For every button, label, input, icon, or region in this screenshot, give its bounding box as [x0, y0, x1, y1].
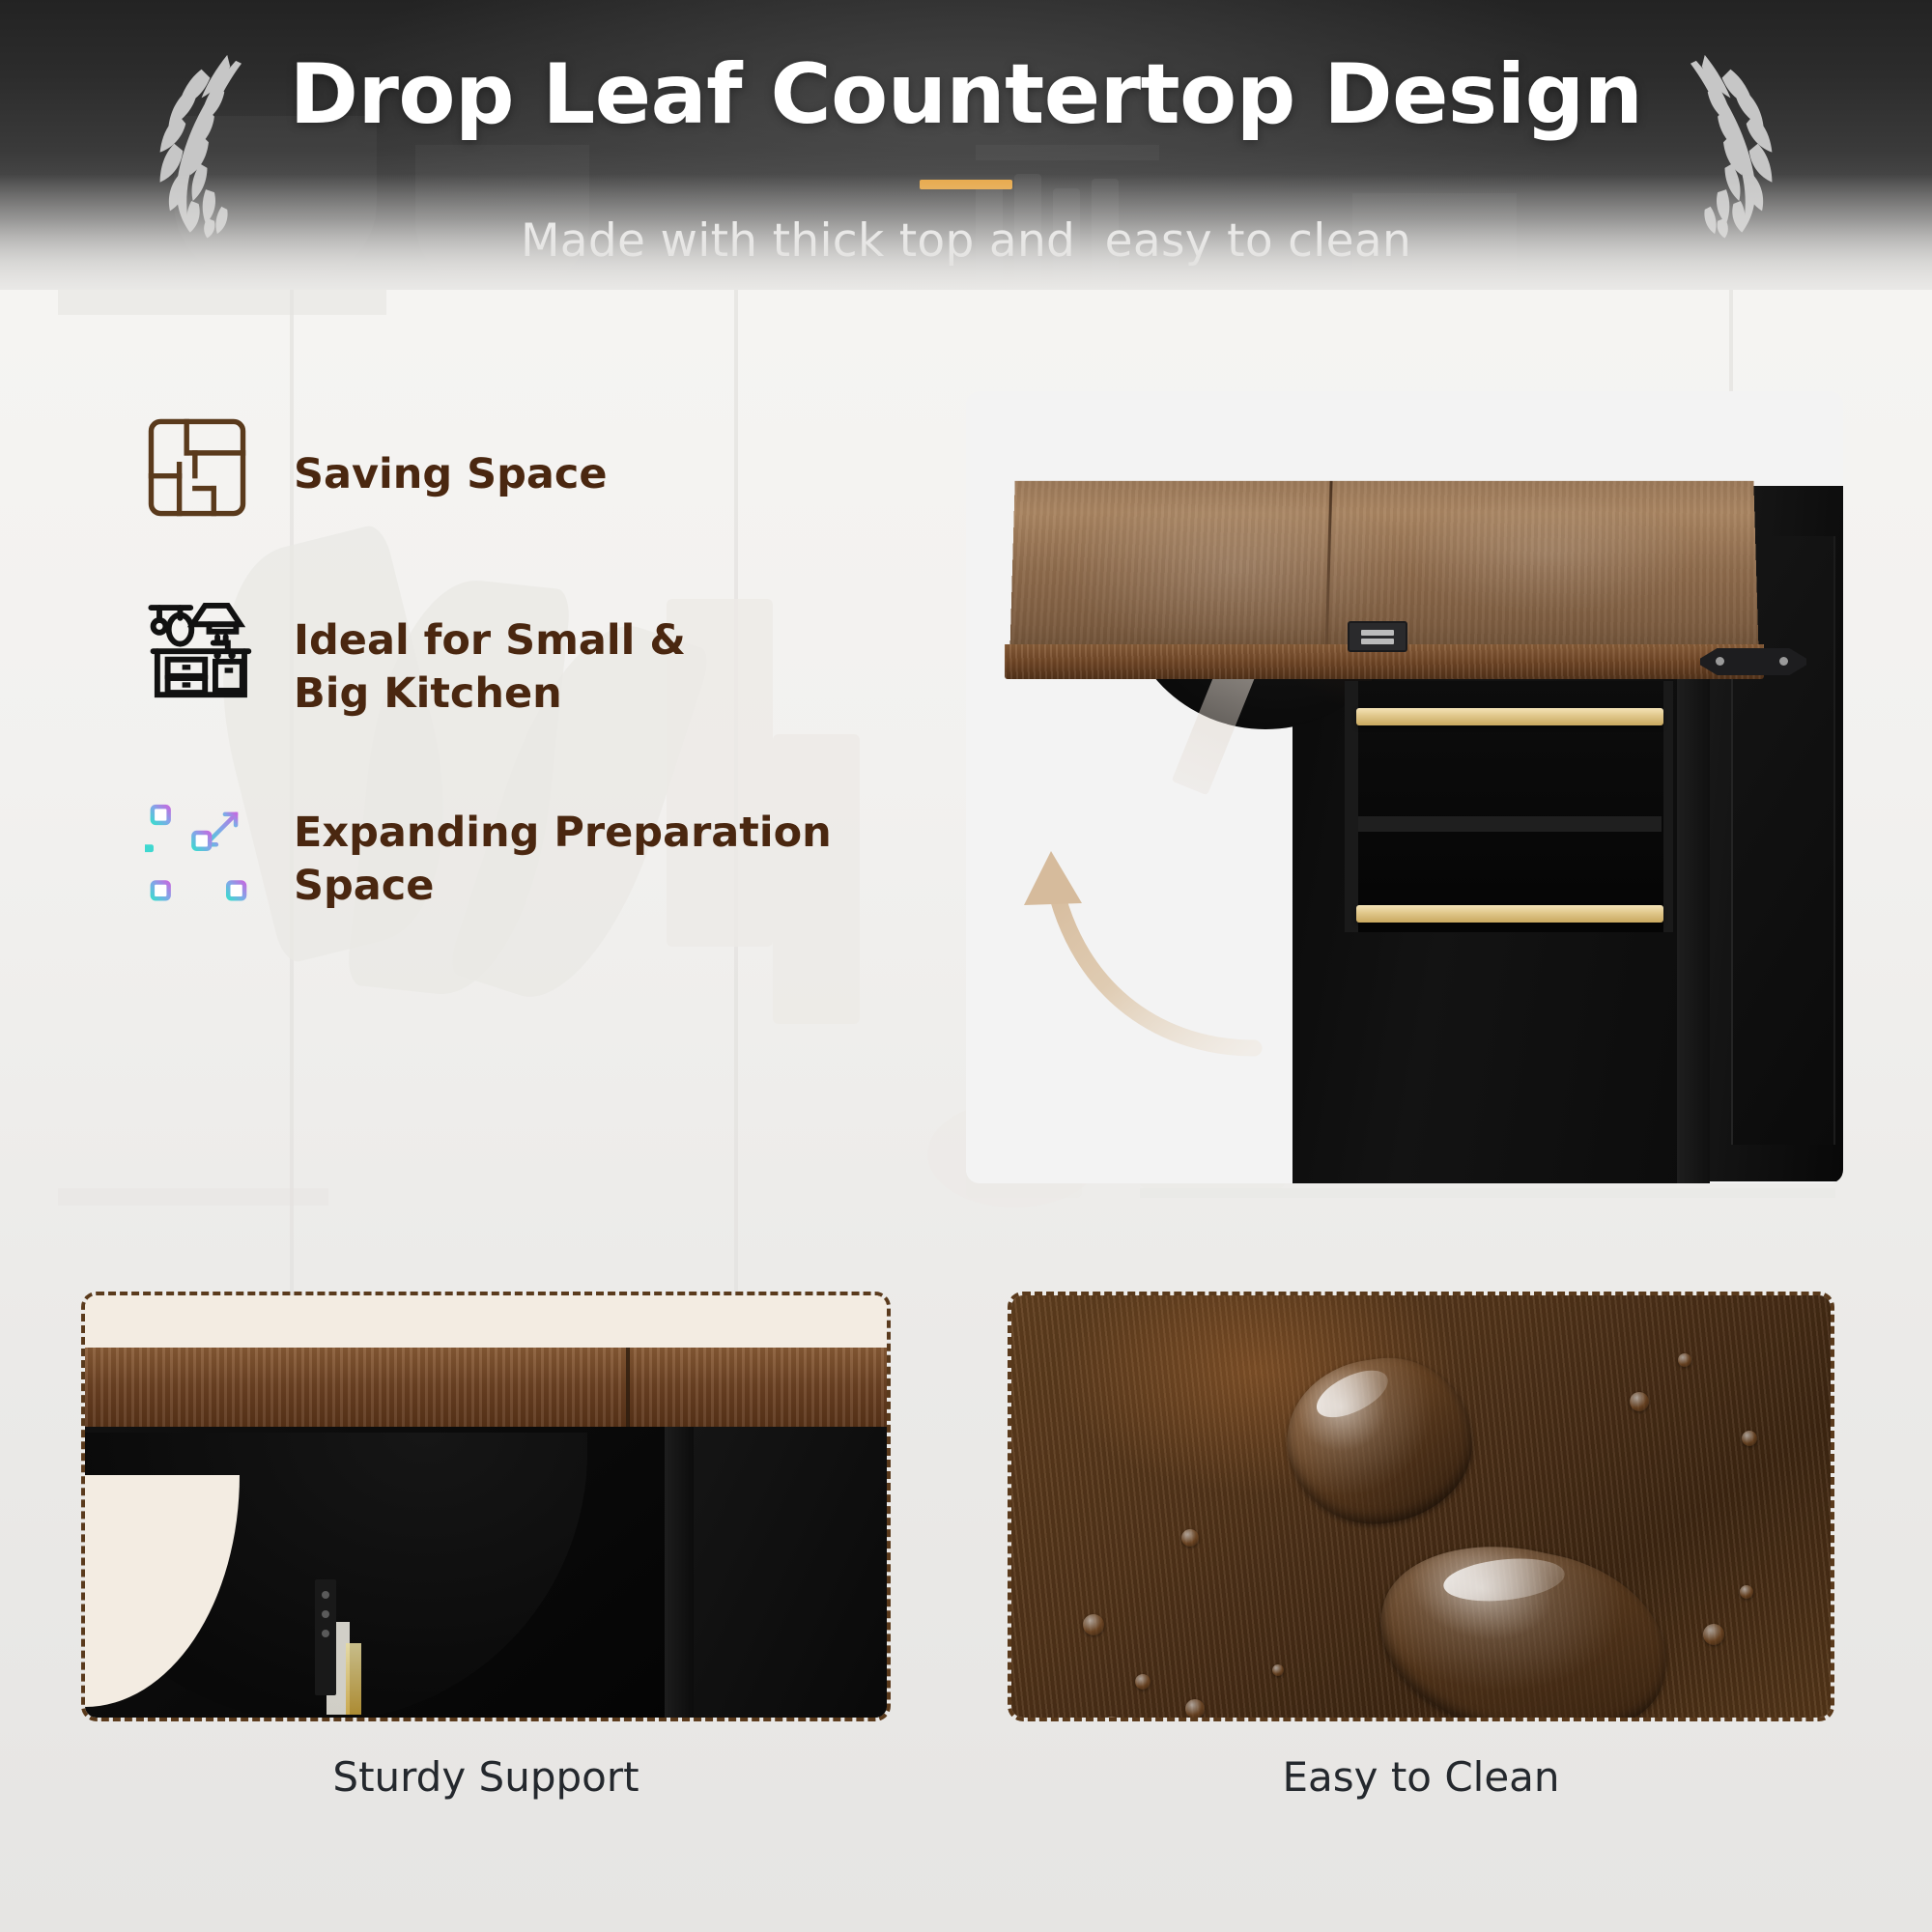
expand-resize-icon	[145, 797, 270, 905]
feature-list: Saving Space	[145, 415, 918, 912]
header-banner: Drop Leaf Countertop Design Made with th…	[0, 0, 1932, 290]
feature-label: Saving Space	[294, 415, 608, 501]
sturdy-support-panel	[81, 1292, 891, 1721]
drawer-handle	[1356, 905, 1663, 923]
feature-item-expanding-space: Expanding Preparation Space	[145, 797, 918, 912]
kitchen-counter-icon	[145, 597, 270, 701]
kitchen-island-drop-leaf-photo	[966, 391, 1843, 1183]
power-outlet	[1348, 621, 1407, 652]
floor-plan-icon	[145, 415, 270, 520]
feature-item-ideal-kitchen: Ideal for Small & Big Kitchen	[145, 597, 918, 720]
panel-caption-sturdy-support: Sturdy Support	[81, 1753, 891, 1801]
easy-to-clean-panel	[1008, 1292, 1834, 1721]
feature-label: Ideal for Small & Big Kitchen	[294, 597, 686, 720]
page-title: Drop Leaf Countertop Design	[0, 46, 1932, 143]
panel-caption-easy-to-clean: Easy to Clean	[1008, 1753, 1834, 1801]
feature-label: Expanding Preparation Space	[294, 797, 832, 912]
hinge-plate	[1700, 648, 1806, 675]
curved-up-arrow-icon	[1012, 758, 1331, 1077]
marketing-infographic-page: Drop Leaf Countertop Design Made with th…	[0, 0, 1932, 1932]
feature-item-saving-space: Saving Space	[145, 415, 918, 520]
drawer-handle	[1356, 708, 1663, 725]
